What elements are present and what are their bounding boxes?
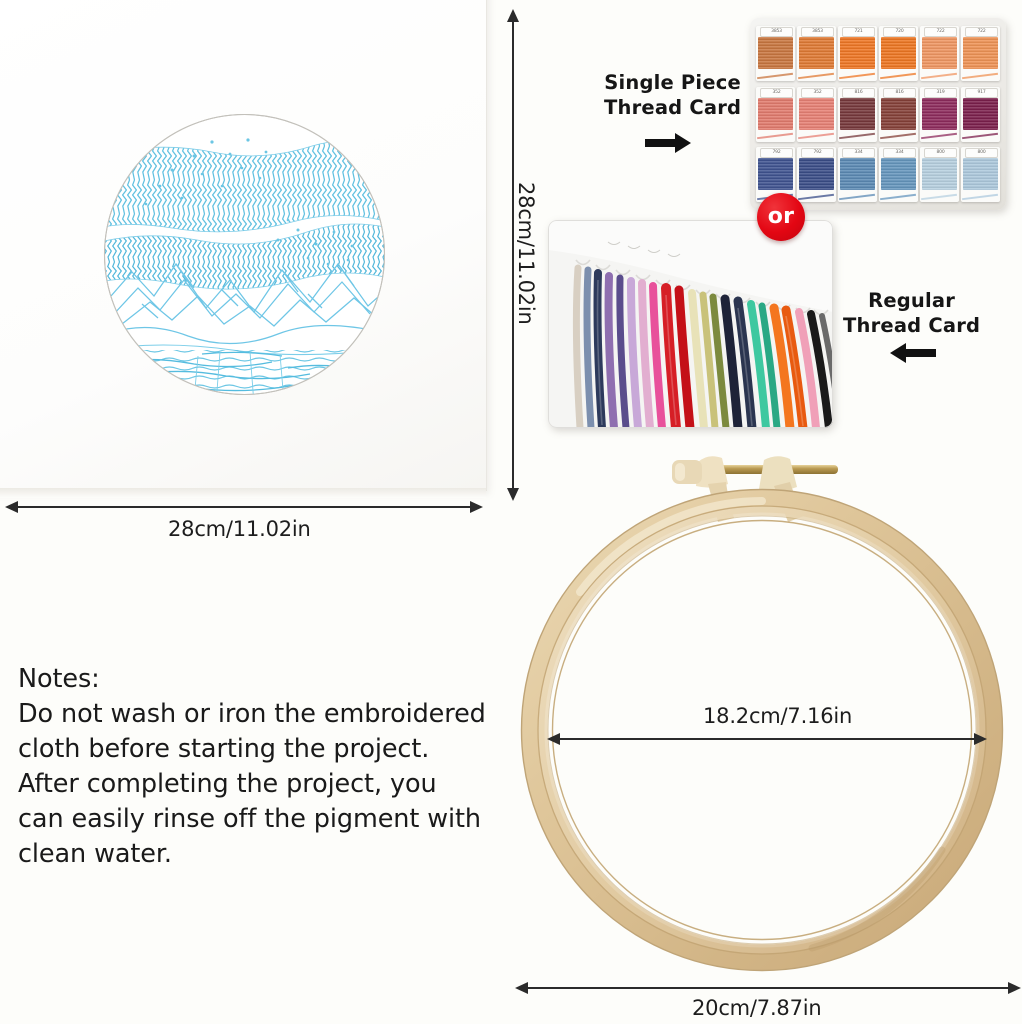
printed-pattern-design (102, 112, 387, 397)
thread-swatch-code: 352 (801, 88, 834, 98)
thread-swatch-color (799, 98, 834, 130)
thread-swatch-code: 792 (801, 148, 834, 158)
thread-swatch-tail (880, 193, 916, 199)
hoop-inner-arrow-right (974, 733, 987, 745)
single-piece-callout-label: Single Piece Thread Card (604, 70, 741, 120)
thread-swatch-code: 722 (965, 27, 998, 37)
thread-swatch: 3853 (756, 26, 795, 81)
thread-swatch-tail (757, 133, 793, 139)
thread-swatch-color (922, 158, 957, 190)
thread-swatch-color (758, 37, 793, 69)
thread-swatch: 800 (961, 147, 1000, 202)
thread-swatch-color (840, 37, 875, 69)
thread-swatch-tail (839, 72, 875, 78)
thread-swatch: 352 (797, 87, 836, 142)
regular-line-2: Thread Card (843, 314, 980, 337)
thread-swatch-code: 3853 (760, 27, 793, 37)
thread-swatch-color (922, 98, 957, 130)
thread-swatch-code: 816 (842, 88, 875, 98)
thread-swatch: 334 (838, 147, 877, 202)
notes-line-1: Do not wash or iron the embroidered (18, 697, 518, 732)
thread-swatch-tail (921, 193, 957, 199)
notes-line-2: cloth before starting the project. (18, 732, 518, 767)
thread-swatch: 722 (961, 26, 1000, 81)
regular-line-1: Regular (868, 289, 955, 312)
thread-swatch-code: 792 (760, 148, 793, 158)
thread-swatch-color (758, 158, 793, 190)
hoop-inner-diameter-label: 18.2cm/7.16in (703, 704, 852, 728)
product-infographic: 28cm/11.02in 28cm/11.02in Single Piece T… (0, 0, 1022, 1024)
thread-swatch-tail (757, 72, 793, 78)
single-piece-line-1: Single Piece (604, 71, 741, 94)
thread-swatch-tail (798, 72, 834, 78)
single-piece-thread-card: 3853385372172072272235235281681631991779… (750, 18, 1006, 210)
thread-swatch: 722 (920, 26, 959, 81)
thread-swatch-color (881, 37, 916, 69)
thread-swatch-tail (921, 72, 957, 78)
fabric-height-arrow-up (507, 9, 519, 22)
thread-swatch-tail (962, 133, 998, 139)
arrow-right-icon (645, 131, 693, 155)
thread-swatch-tail (921, 133, 957, 139)
hoop-inner-arrow-left (547, 733, 560, 745)
thread-swatch-tail (880, 72, 916, 78)
regular-thread-card (548, 220, 833, 428)
thread-swatch: 720 (879, 26, 918, 81)
hoop-inner-dimension-line (560, 738, 974, 740)
fabric-width-dimension-line (18, 506, 470, 508)
notes-line-5: clean water. (18, 837, 518, 872)
notes-heading: Notes: (18, 662, 518, 697)
hoop-outer-arrow-left (515, 982, 528, 994)
thread-card-row: 792792334334800800 (756, 147, 1000, 202)
fabric-bottom-edge (0, 488, 486, 498)
arrow-left-icon (888, 341, 936, 365)
thread-swatch-code: 816 (883, 88, 916, 98)
thread-swatch-code: 3853 (801, 27, 834, 37)
fabric-width-arrow-right (470, 501, 483, 513)
thread-swatch: 319 (920, 87, 959, 142)
thread-swatch-color (840, 98, 875, 130)
fabric-width-label: 28cm/11.02in (168, 517, 311, 541)
hoop-outer-diameter-label: 20cm/7.87in (692, 996, 822, 1020)
thread-swatch: 816 (879, 87, 918, 142)
regular-callout-label: Regular Thread Card (843, 288, 980, 338)
thread-swatch-color (881, 98, 916, 130)
thread-swatch-code: 334 (842, 148, 875, 158)
notes-block: Notes: Do not wash or iron the embroider… (18, 662, 518, 872)
thread-swatch-tail (962, 193, 998, 199)
thread-swatch: 334 (879, 147, 918, 202)
thread-card-row: 352352816816319917 (756, 87, 1000, 142)
thread-swatch-color (758, 98, 793, 130)
thread-swatch-tail (880, 133, 916, 139)
thread-swatch-color (922, 37, 957, 69)
hoop-outer-dimension-line (528, 987, 1008, 989)
thread-swatch-code: 352 (760, 88, 793, 98)
fabric-height-label: 28cm/11.02in (514, 182, 538, 325)
thread-card-row: 38533853721720722722 (756, 26, 1000, 81)
thread-swatch-code: 917 (965, 88, 998, 98)
thread-swatch-tail (798, 193, 834, 199)
thread-swatch-tail (839, 133, 875, 139)
thread-swatch: 3853 (797, 26, 836, 81)
thread-swatch-code: 720 (883, 27, 916, 37)
thread-swatch-tail (962, 72, 998, 78)
thread-swatch-code: 722 (924, 27, 957, 37)
thread-swatch: 352 (756, 87, 795, 142)
notes-line-4: can easily rinse off the pigment with (18, 802, 518, 837)
thread-swatch-code: 319 (924, 88, 957, 98)
thread-swatch-color (963, 37, 998, 69)
thread-swatch: 816 (838, 87, 877, 142)
thread-swatch-color (799, 158, 834, 190)
thread-swatch-code: 721 (842, 27, 875, 37)
thread-swatch-color (799, 37, 834, 69)
thread-swatch: 800 (920, 147, 959, 202)
thread-swatch-tail (839, 193, 875, 199)
single-piece-line-2: Thread Card (604, 96, 741, 119)
thread-swatch-code: 334 (883, 148, 916, 158)
thread-swatch: 721 (838, 26, 877, 81)
thread-swatch-color (840, 158, 875, 190)
thread-swatch-code: 800 (965, 148, 998, 158)
thread-swatch-color (963, 158, 998, 190)
thread-swatch-color (963, 98, 998, 130)
or-badge: or (757, 193, 805, 241)
thread-swatch-code: 800 (924, 148, 957, 158)
thread-swatch-color (881, 158, 916, 190)
fabric-width-arrow-left (5, 501, 18, 513)
hoop-outer-arrow-right (1008, 982, 1021, 994)
thread-swatch-tail (798, 133, 834, 139)
notes-line-3: After completing the project, you (18, 767, 518, 802)
thread-swatch: 792 (797, 147, 836, 202)
thread-swatch: 917 (961, 87, 1000, 142)
